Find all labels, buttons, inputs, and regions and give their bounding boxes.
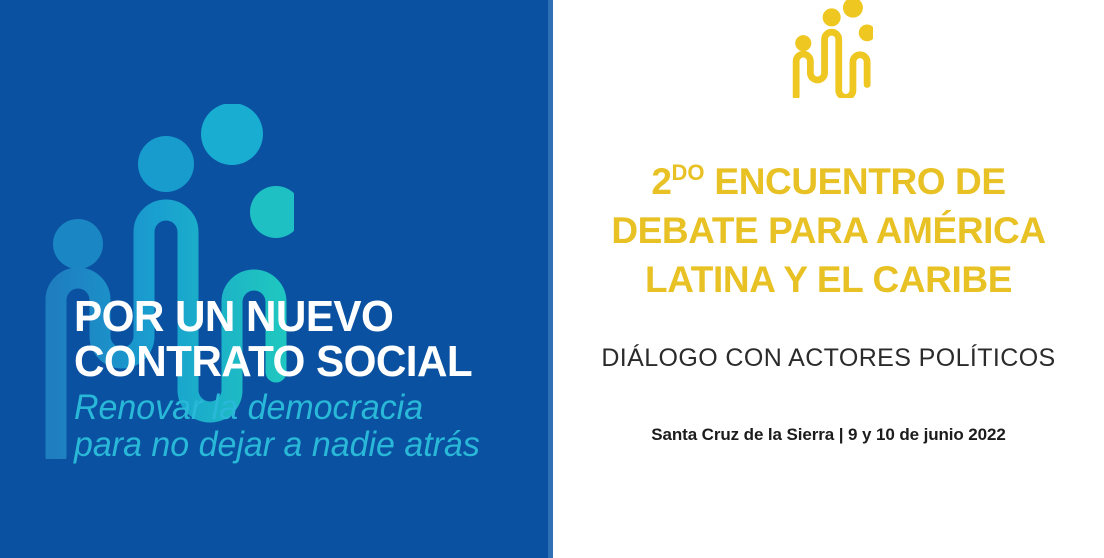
- event-banner: POR UN NUEVO CONTRATO SOCIAL Renovar la …: [0, 0, 1104, 558]
- event-title-line-1: 2DO ENCUENTRO DE: [553, 148, 1104, 206]
- event-title-line-3: LATINA Y EL CARIBE: [553, 255, 1104, 304]
- left-brand-panel: POR UN NUEVO CONTRATO SOCIAL Renovar la …: [0, 0, 553, 558]
- event-subtitle: DIÁLOGO CON ACTORES POLÍTICOS: [553, 344, 1104, 373]
- event-place-date: Santa Cruz de la Sierra | 9 y 10 de juni…: [553, 425, 1104, 445]
- tagline-line-2: para no dejar a nadie atrás: [74, 426, 530, 463]
- event-title-line-2: DEBATE PARA AMÉRICA: [553, 206, 1104, 255]
- right-content-panel: 2DO ENCUENTRO DE DEBATE PARA AMÉRICA LAT…: [553, 0, 1104, 558]
- headline-line-2: CONTRATO SOCIAL: [74, 339, 525, 384]
- headline-line-1: POR UN NUEVO: [74, 294, 525, 339]
- event-title-number: 2: [651, 161, 671, 202]
- people-wave-logo-mark-gold: [789, 0, 873, 98]
- event-title-ordinal: DO: [672, 160, 705, 185]
- tagline-line-1: Renovar la democracia: [74, 389, 530, 426]
- tagline: Renovar la democracia para no dejar a na…: [74, 389, 544, 463]
- headline: POR UN NUEVO CONTRATO SOCIAL: [74, 294, 544, 384]
- event-title-rest: ENCUENTRO DE: [705, 161, 1006, 202]
- event-title: 2DO ENCUENTRO DE DEBATE PARA AMÉRICA LAT…: [553, 148, 1104, 304]
